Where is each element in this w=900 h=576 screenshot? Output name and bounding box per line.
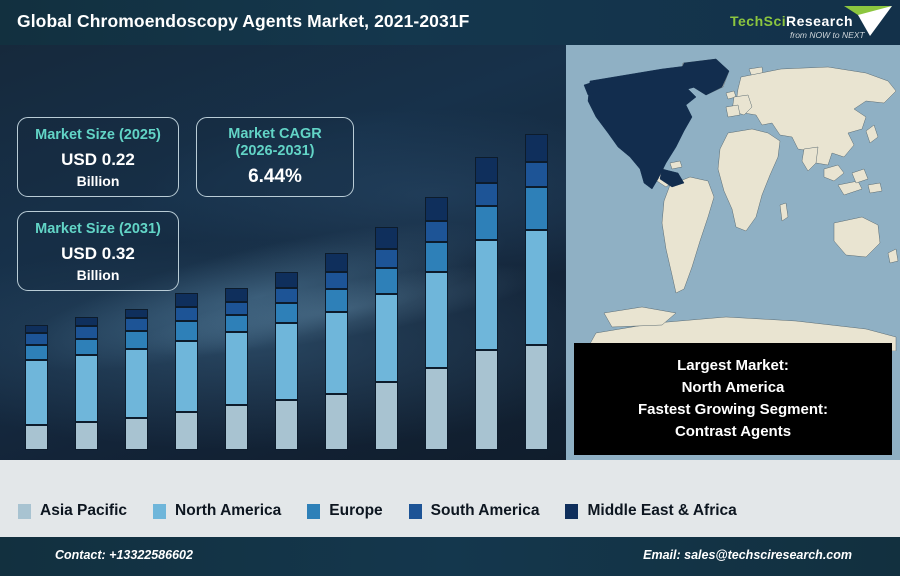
bar-segment-europe [525, 187, 548, 230]
bar-segment-south-america [175, 307, 198, 321]
bar-segment-asia-pacific [125, 418, 148, 450]
bar-segment-asia-pacific [325, 394, 348, 450]
bar-segment-middle-east-africa [75, 317, 98, 326]
bar-segment-south-america [275, 288, 298, 303]
legend-label: Asia Pacific [40, 502, 127, 520]
bar-segment-middle-east-africa [525, 134, 548, 162]
legend-item-europe[interactable]: Europe [307, 502, 382, 520]
bar-segment-south-america [475, 183, 498, 206]
x-axis: 202120222023202420252026E2027F2028F2029F… [0, 460, 566, 485]
bar-segment-europe [125, 331, 148, 349]
bar-2027F [325, 253, 348, 450]
bar-segment-asia-pacific [375, 382, 398, 450]
legend-label: North America [175, 502, 281, 520]
bar-segment-europe [375, 268, 398, 294]
bar-segment-middle-east-africa [125, 309, 148, 318]
legend-item-north-america[interactable]: North America [153, 502, 281, 520]
techsci-research-logo: TechSci Research from NOW to NEXT [724, 2, 894, 44]
legend-swatch-icon [153, 504, 166, 519]
page-title: Global Chromoendoscopy Agents Market, 20… [17, 11, 469, 32]
bar-segment-asia-pacific [275, 400, 298, 450]
bar-segment-north-america [75, 355, 98, 422]
bar-segment-north-america [175, 341, 198, 412]
bar-2024 [175, 293, 198, 450]
bar-segment-north-america [25, 360, 48, 425]
contact-text: Contact: +13322586602 [55, 548, 193, 562]
bar-segment-south-america [375, 249, 398, 268]
footer-bar: Contact: +13322586602 Email: sales@techs… [0, 537, 900, 576]
bar-segment-north-america [275, 323, 298, 400]
bar-2030F [475, 157, 498, 450]
bar-2026E [275, 272, 298, 450]
bar-segment-north-america [375, 294, 398, 382]
bar-segment-south-america [25, 333, 48, 345]
legend-item-asia-pacific[interactable]: Asia Pacific [18, 502, 127, 520]
bar-2028F [375, 227, 398, 450]
bar-segment-europe [25, 345, 48, 360]
bar-segment-asia-pacific [25, 425, 48, 450]
bar-segment-asia-pacific [75, 422, 98, 450]
bar-segment-middle-east-africa [275, 272, 298, 288]
bar-segment-europe [225, 315, 248, 332]
bar-segment-asia-pacific [425, 368, 448, 450]
logo-icon: TechSci Research from NOW to NEXT [724, 2, 894, 44]
bar-2022 [75, 317, 98, 450]
bar-2023 [125, 309, 148, 450]
legend-label: Middle East & Africa [587, 502, 736, 520]
bar-segment-south-america [125, 318, 148, 331]
key-findings-box: Largest Market: North America Fastest Gr… [574, 343, 892, 455]
bar-segment-asia-pacific [475, 350, 498, 450]
bar-segment-middle-east-africa [225, 288, 248, 302]
bar-2029F [425, 197, 448, 450]
legend-item-middle-east-africa[interactable]: Middle East & Africa [565, 502, 736, 520]
bar-segment-north-america [225, 332, 248, 405]
infographic-page: Global Chromoendoscopy Agents Market, 20… [0, 0, 900, 576]
bar-segment-europe [325, 289, 348, 312]
svg-text:Research: Research [786, 13, 853, 29]
svg-text:from NOW to NEXT: from NOW to NEXT [790, 30, 865, 40]
bar-segment-middle-east-africa [25, 325, 48, 333]
bar-2025 [225, 288, 248, 450]
bar-2031F [525, 134, 548, 450]
legend-item-south-america[interactable]: South America [409, 502, 540, 520]
bar-segment-north-america [325, 312, 348, 394]
legend-swatch-icon [307, 504, 320, 519]
bar-segment-south-america [325, 272, 348, 289]
bar-2021 [25, 325, 48, 450]
bar-segment-north-america [425, 272, 448, 368]
bar-segment-north-america [525, 230, 548, 345]
largest-market-value: North America [682, 377, 785, 399]
bar-segment-north-america [125, 349, 148, 418]
bar-segment-middle-east-africa [425, 197, 448, 221]
bar-segment-europe [75, 339, 98, 355]
legend-swatch-icon [18, 504, 31, 519]
svg-text:TechSci: TechSci [730, 13, 786, 29]
bar-segment-middle-east-africa [175, 293, 198, 307]
header-bar: Global Chromoendoscopy Agents Market, 20… [0, 0, 900, 45]
bar-segment-asia-pacific [525, 345, 548, 450]
bar-segment-europe [275, 303, 298, 323]
largest-market-label: Largest Market: [677, 355, 789, 377]
legend-label: Europe [329, 502, 382, 520]
bar-segment-north-america [475, 240, 498, 350]
bar-segment-asia-pacific [225, 405, 248, 450]
bar-segment-europe [175, 321, 198, 341]
bar-segment-south-america [425, 221, 448, 242]
bar-segment-middle-east-africa [375, 227, 398, 249]
chart-legend: Asia PacificNorth AmericaEuropeSouth Ame… [0, 485, 900, 537]
world-map-panel: Largest Market: North America Fastest Gr… [566, 45, 900, 460]
bar-segment-middle-east-africa [325, 253, 348, 272]
legend-label: South America [431, 502, 540, 520]
world-map-icon [566, 45, 900, 351]
bar-segment-south-america [225, 302, 248, 315]
fastest-segment-value: Contrast Agents [675, 421, 791, 443]
bar-segment-south-america [75, 326, 98, 339]
stacked-bar-plot [0, 45, 566, 460]
bar-segment-europe [425, 242, 448, 272]
chart-panel: Market Size (2025) USD 0.22 Billion Mark… [0, 45, 566, 460]
bar-segment-south-america [525, 162, 548, 187]
legend-swatch-icon [409, 504, 422, 519]
bar-segment-europe [475, 206, 498, 240]
legend-swatch-icon [565, 504, 578, 519]
bar-segment-middle-east-africa [475, 157, 498, 183]
bar-segment-asia-pacific [175, 412, 198, 450]
email-text: Email: sales@techsciresearch.com [643, 548, 852, 562]
fastest-segment-label: Fastest Growing Segment: [638, 399, 828, 421]
